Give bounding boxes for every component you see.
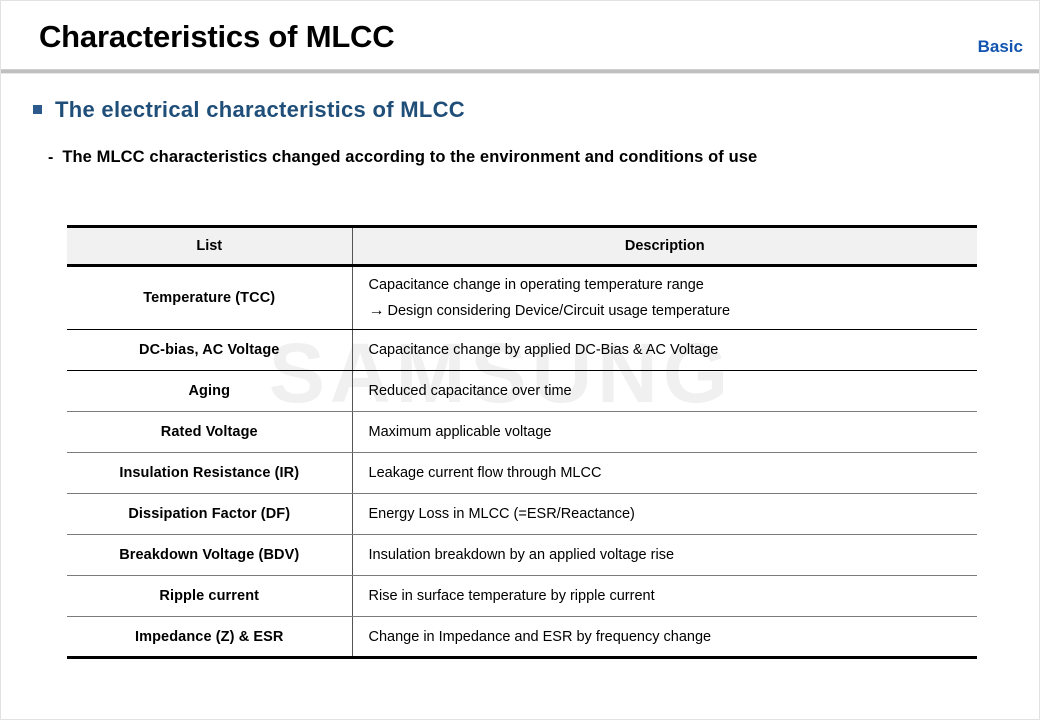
row-list-rated-voltage: Rated Voltage bbox=[67, 412, 352, 453]
desc-line-2: Design considering Device/Circuit usage … bbox=[388, 303, 731, 319]
row-list-ripple-current: Ripple current bbox=[67, 576, 352, 617]
row-description-insulation-resistance: Leakage current flow through MLCC bbox=[352, 453, 977, 494]
row-list-insulation-resistance: Insulation Resistance (IR) bbox=[67, 453, 352, 494]
page-title: Characteristics of MLCC bbox=[39, 19, 394, 55]
column-header-list: List bbox=[67, 227, 352, 266]
desc-line-1: Capacitance change in operating temperat… bbox=[369, 277, 704, 293]
slide-canvas: Characteristics of MLCC Basic The electr… bbox=[0, 0, 1040, 720]
row-list-impedance-esr: Impedance (Z) & ESR bbox=[67, 617, 352, 658]
table-row: Ripple current Rise in surface temperatu… bbox=[67, 576, 977, 617]
row-list-dcbias: DC-bias, AC Voltage bbox=[67, 330, 352, 371]
characteristics-table: List Description Temperature (TCC) Capac… bbox=[67, 225, 977, 659]
secondary-bullet: - The MLCC characteristics changed accor… bbox=[48, 148, 757, 167]
row-description-dcbias: Capacitance change by applied DC-Bias & … bbox=[352, 330, 977, 371]
dash-bullet-icon: - bbox=[48, 149, 53, 167]
slide-header: Characteristics of MLCC Basic bbox=[1, 1, 1040, 69]
level-badge: Basic bbox=[978, 37, 1023, 57]
characteristics-table-wrapper: List Description Temperature (TCC) Capac… bbox=[67, 225, 977, 659]
table-row: Rated Voltage Maximum applicable voltage bbox=[67, 412, 977, 453]
desc-line-2-wrap: →Design considering Device/Circuit usage… bbox=[369, 302, 978, 320]
row-description-breakdown-voltage: Insulation breakdown by an applied volta… bbox=[352, 535, 977, 576]
row-description-aging: Reduced capacitance over time bbox=[352, 371, 977, 412]
table-row: Aging Reduced capacitance over time bbox=[67, 371, 977, 412]
row-description-rated-voltage: Maximum applicable voltage bbox=[352, 412, 977, 453]
primary-bullet-label: The electrical characteristics of MLCC bbox=[55, 97, 465, 123]
header-divider bbox=[1, 69, 1040, 76]
square-bullet-icon bbox=[33, 105, 42, 114]
column-header-description: Description bbox=[352, 227, 977, 266]
row-list-breakdown-voltage: Breakdown Voltage (BDV) bbox=[67, 535, 352, 576]
table-row: Impedance (Z) & ESR Change in Impedance … bbox=[67, 617, 977, 658]
row-description-dissipation-factor: Energy Loss in MLCC (=ESR/Reactance) bbox=[352, 494, 977, 535]
table-row: Temperature (TCC) Capacitance change in … bbox=[67, 266, 977, 330]
row-description-impedance-esr: Change in Impedance and ESR by frequency… bbox=[352, 617, 977, 658]
table-row: DC-bias, AC Voltage Capacitance change b… bbox=[67, 330, 977, 371]
row-list-temperature: Temperature (TCC) bbox=[67, 266, 352, 330]
row-list-dissipation-factor: Dissipation Factor (DF) bbox=[67, 494, 352, 535]
row-list-aging: Aging bbox=[67, 371, 352, 412]
divider-line-bottom bbox=[1, 73, 1040, 74]
primary-bullet: The electrical characteristics of MLCC bbox=[33, 97, 465, 123]
table-row: Dissipation Factor (DF) Energy Loss in M… bbox=[67, 494, 977, 535]
row-description-temperature: Capacitance change in operating temperat… bbox=[352, 266, 977, 330]
table-row: Breakdown Voltage (BDV) Insulation break… bbox=[67, 535, 977, 576]
secondary-bullet-label: The MLCC characteristics changed accordi… bbox=[62, 148, 757, 167]
arrow-right-icon: → bbox=[369, 302, 385, 319]
table-header-row: List Description bbox=[67, 227, 977, 266]
table-row: Insulation Resistance (IR) Leakage curre… bbox=[67, 453, 977, 494]
row-description-ripple-current: Rise in surface temperature by ripple cu… bbox=[352, 576, 977, 617]
